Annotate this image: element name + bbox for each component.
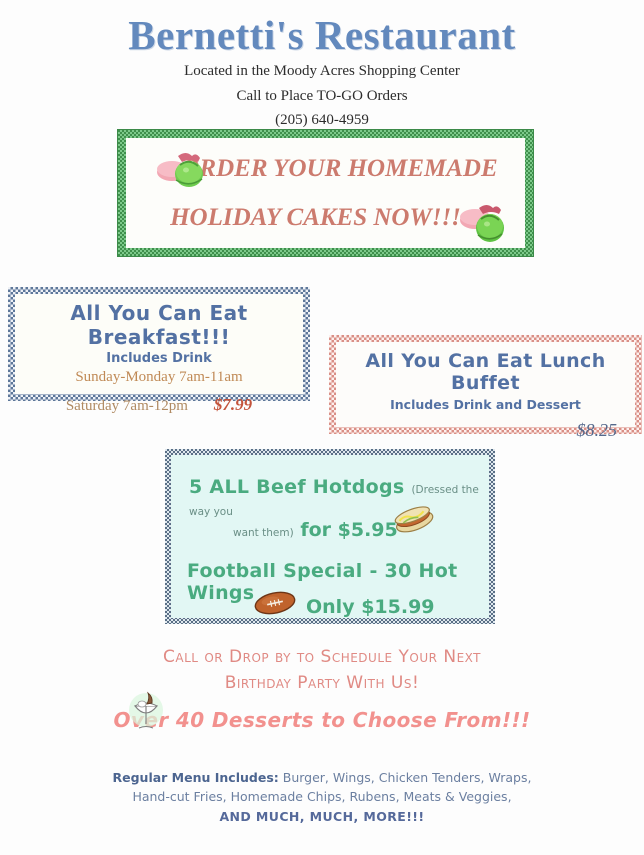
lunch-price: $8.25 xyxy=(336,420,617,441)
breakfast-price: $7.99 xyxy=(214,395,252,415)
lunch-box-content: All You Can Eat Lunch Buffet Includes Dr… xyxy=(336,342,635,427)
holiday-cake-icon xyxy=(459,200,511,246)
page-header: Bernetti's Restaurant Located in the Moo… xyxy=(0,14,644,131)
birthday-party-promo: Call or Drop by to Schedule Your Next Bi… xyxy=(0,645,644,696)
header-location: Located in the Moody Acres Shopping Cent… xyxy=(0,61,644,82)
cake-banner-line-1: ORDER YOUR HOMEMADE xyxy=(154,155,525,183)
cake-banner-line-2: HOLIDAY CAKES NOW!!! xyxy=(126,204,505,232)
hotdog-price: for $5.95 xyxy=(300,519,397,541)
birthday-line-2: Birthday Party With Us! xyxy=(0,671,644,697)
desserts-text: Over 40 Desserts to Choose From!!! xyxy=(113,708,530,732)
breakfast-saturday-row: Saturday 7am-12pm $7.99 xyxy=(15,395,303,415)
menu-line-3: AND MUCH, MUCH, MORE!!! xyxy=(0,807,644,826)
lunch-buffet-box: All You Can Eat Lunch Buffet Includes Dr… xyxy=(329,335,642,434)
hotdog-icon xyxy=(393,503,435,537)
hotdog-price-line: want them) for $5.95 xyxy=(233,519,398,541)
hotdog-headline: 5 ALL Beef Hotdogs (Dressed the way you xyxy=(189,476,479,520)
birthday-line-1: Call or Drop by to Schedule Your Next xyxy=(0,645,644,671)
menu-line-1: Regular Menu Includes: Burger, Wings, Ch… xyxy=(0,768,644,787)
lunch-includes: Includes Drink and Dessert xyxy=(336,397,635,412)
football-icon xyxy=(253,589,297,617)
menu-line-1-items: Burger, Wings, Chicken Tenders, Wraps, xyxy=(279,770,532,785)
hotdog-box-body: 5 ALL Beef Hotdogs (Dressed the way you … xyxy=(171,455,489,618)
hotdog-box-content: 5 ALL Beef Hotdogs (Dressed the way you … xyxy=(171,455,489,618)
breakfast-includes: Includes Drink xyxy=(15,351,303,366)
breakfast-title: All You Can Eat Breakfast!!! xyxy=(15,301,303,349)
menu-lead-label: Regular Menu Includes: xyxy=(113,770,279,785)
hotdog-wings-special-box: 5 ALL Beef Hotdogs (Dressed the way you … xyxy=(165,449,495,624)
football-special-price: Only $15.99 xyxy=(306,596,435,618)
hotdog-headline-main: 5 ALL Beef Hotdogs xyxy=(189,476,405,498)
desserts-promo: Over 40 Desserts to Choose From!!! xyxy=(0,708,644,732)
menu-line-2: Hand-cut Fries, Homemade Chips, Rubens, … xyxy=(0,787,644,806)
breakfast-box-content: All You Can Eat Breakfast!!! Includes Dr… xyxy=(15,294,303,394)
breakfast-hours-saturday: Saturday 7am-12pm xyxy=(66,398,188,415)
ice-cream-sundae-icon xyxy=(128,690,164,738)
header-togo-note: Call to Place TO-GO Orders xyxy=(0,86,644,107)
holiday-cake-icon xyxy=(156,146,208,192)
regular-menu-footer: Regular Menu Includes: Burger, Wings, Ch… xyxy=(0,768,644,826)
holiday-cake-banner: ORDER YOUR HOMEMADE HOLIDAY CAKES NOW!!! xyxy=(118,130,533,256)
hotdog-note-continued: want them) xyxy=(233,527,294,539)
breakfast-special-box: All You Can Eat Breakfast!!! Includes Dr… xyxy=(8,287,310,401)
header-phone: (205) 640-4959 xyxy=(0,110,644,131)
breakfast-hours-weekday: Sunday-Monday 7am-11am xyxy=(15,369,303,386)
lunch-title: All You Can Eat Lunch Buffet xyxy=(336,350,635,394)
page-title: Bernetti's Restaurant xyxy=(0,14,644,57)
